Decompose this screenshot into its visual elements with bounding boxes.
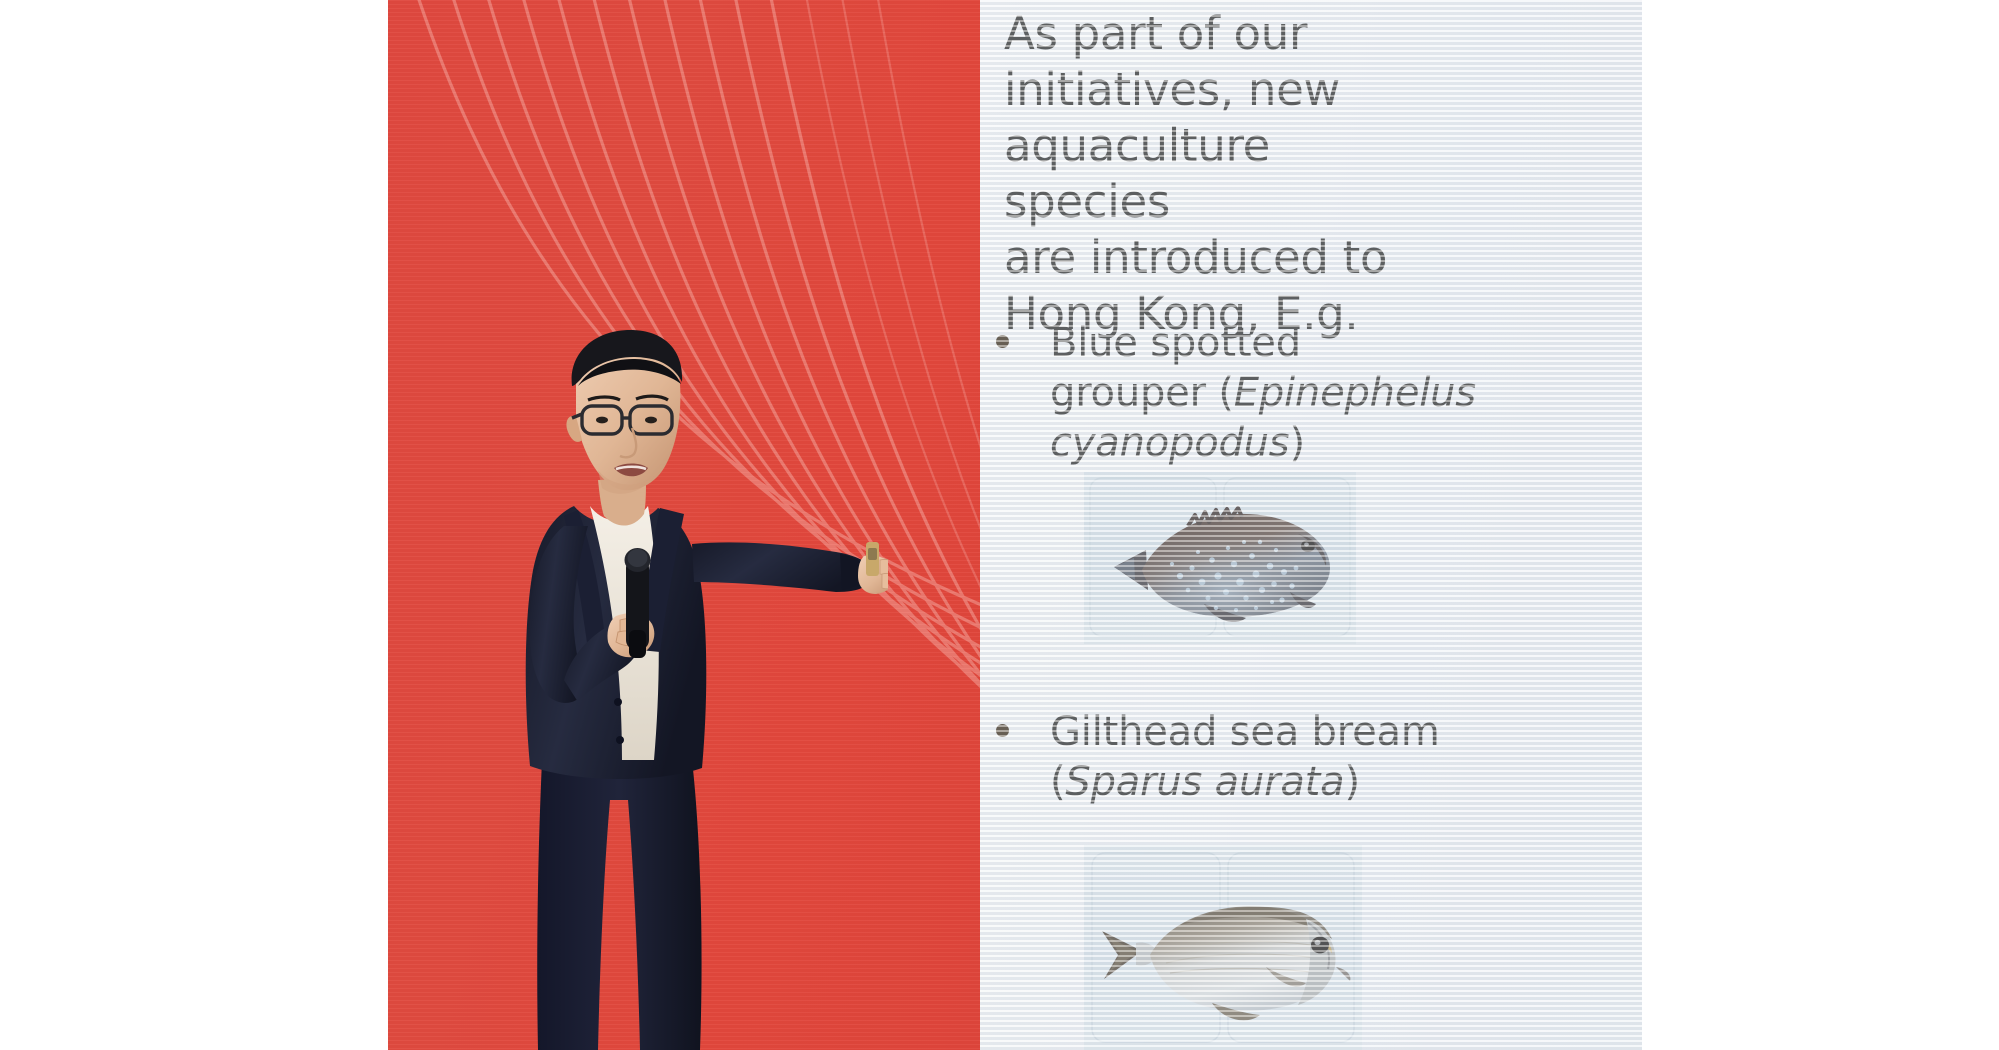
- presentation-slide: As part of our initiatives, new aquacult…: [980, 0, 1642, 1050]
- grouper-genus: Epinephelus: [1234, 370, 1476, 416]
- screenshot-stage: As part of our initiatives, new aquacult…: [0, 0, 1999, 1050]
- sea-bream-illustration: [1084, 845, 1362, 1050]
- slide-bullet-grouper: Blue spotted grouper (Epinephelus cyanop…: [996, 318, 1476, 468]
- bream-line-2-suffix: ): [1344, 759, 1359, 805]
- bream-scientific-name: Sparus aurata: [1065, 759, 1344, 805]
- slide-content: As part of our initiatives, new aquacult…: [980, 0, 1642, 1050]
- bullet-dot-icon: [996, 724, 1009, 737]
- sea-bream-photo: [1084, 845, 1362, 1050]
- bullet-sea-bream-text: Gilthead sea bream (Sparus aurata): [1050, 707, 1440, 807]
- bullet-grouper-text: Blue spotted grouper (Epinephelus cyanop…: [1050, 318, 1476, 468]
- grouper-line-2-prefix: grouper (: [1050, 370, 1234, 416]
- left-white-margin: [0, 0, 388, 1050]
- grouper-line-3-suffix: ): [1289, 420, 1304, 466]
- grouper-illustration: [1084, 472, 1356, 644]
- grouper-species: cyanopodus: [1050, 420, 1289, 466]
- grouper-line-1: Blue spotted: [1050, 320, 1301, 366]
- heading-line-4: are introduced to: [1004, 231, 1387, 284]
- grouper-photo: [1084, 472, 1356, 644]
- heading-line-3: aquaculture species: [1004, 119, 1270, 228]
- heading-line-2: initiatives, new: [1004, 63, 1340, 116]
- right-white-margin: [1642, 0, 1999, 1050]
- slide-bullet-sea-bream: Gilthead sea bream (Sparus aurata): [996, 707, 1496, 807]
- bream-line-2-prefix: (: [1050, 759, 1065, 805]
- bream-line-1: Gilthead sea bream: [1050, 709, 1440, 755]
- heading-line-1: As part of our: [1004, 7, 1307, 60]
- slide-heading: As part of our initiatives, new aquacult…: [1004, 6, 1404, 342]
- speaker-figure: [468, 330, 888, 1050]
- bullet-dot-icon: [996, 335, 1009, 348]
